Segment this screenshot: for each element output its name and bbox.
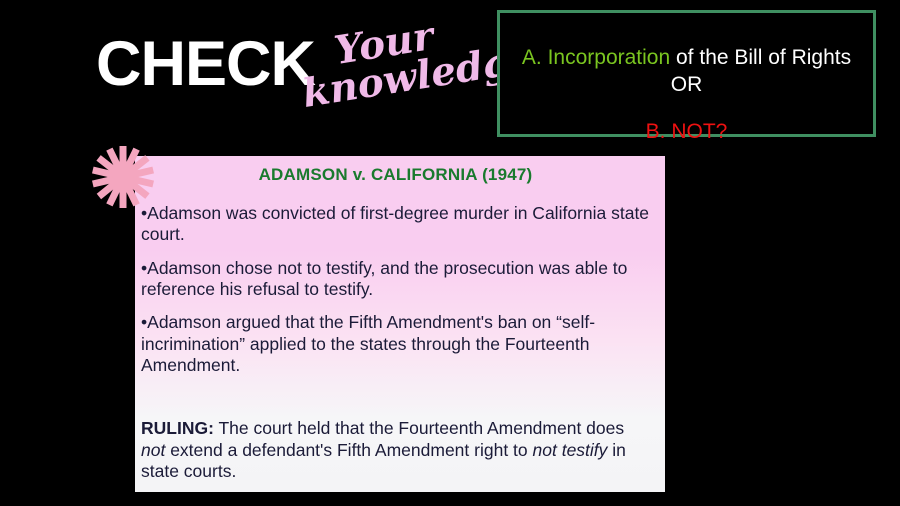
ruling-part-2: extend a defendant's Fifth Amendment rig… [165, 440, 532, 460]
case-bullet-1: •Adamson was convicted of first-degree m… [139, 203, 652, 246]
question-connector: OR [500, 72, 873, 99]
ruling-part-1: The court held that the Fourteenth Amend… [214, 418, 624, 438]
starburst-icon [92, 146, 154, 208]
ruling-label: RULING: [141, 418, 214, 438]
case-bullet-2-text: Adamson chose not to testify, and the pr… [141, 258, 627, 299]
case-bullet-1-text: Adamson was convicted of first-degree mu… [141, 203, 649, 244]
question-option-b: B. NOT? [500, 119, 873, 146]
case-bullet-3-text: Adamson argued that the Fifth Amendment'… [141, 312, 595, 375]
case-ruling: RULING: The court held that the Fourteen… [139, 418, 652, 482]
question-option-a-highlight: A. Incorporation [522, 46, 670, 69]
question-box: A. Incorporation of the Bill of Rights O… [497, 10, 876, 137]
ruling-italic-2: not testify [533, 440, 608, 460]
case-card: ADAMSON v. CALIFORNIA (1947) •Adamson wa… [135, 156, 665, 492]
case-bullet-2: •Adamson chose not to testify, and the p… [139, 258, 652, 301]
case-title: ADAMSON v. CALIFORNIA (1947) [139, 165, 652, 185]
headline-check: CHECK [96, 33, 315, 96]
ruling-italic-1: not [141, 440, 165, 460]
ruling-spacer [139, 388, 652, 418]
question-option-a: A. Incorporation of the Bill of Rights [500, 45, 873, 72]
question-box-content: A. Incorporation of the Bill of Rights O… [500, 45, 873, 146]
slide-canvas: CHECK Your knowledge! A. Incorporation o… [0, 0, 900, 506]
headline-script-group: Your knowledge! [306, 28, 491, 123]
question-option-a-rest: of the Bill of Rights [670, 46, 851, 69]
case-bullet-3: •Adamson argued that the Fifth Amendment… [139, 312, 652, 376]
